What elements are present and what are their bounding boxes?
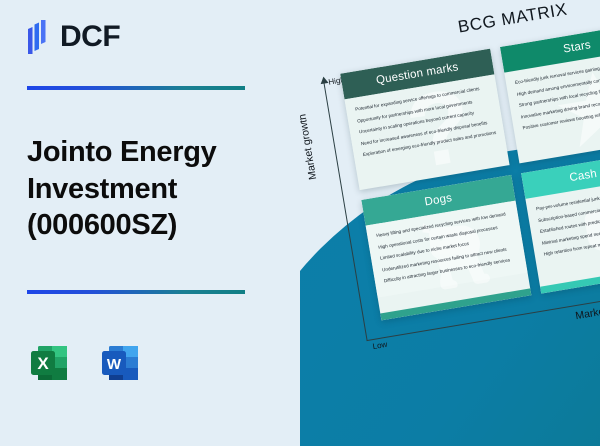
dcf-bars-logo-icon: [25, 20, 51, 54]
cover-left-panel: DCF Jointo Energy Investment (000600SZ) …: [0, 0, 300, 446]
svg-text:W: W: [107, 356, 122, 373]
quadrant-title: Stars: [562, 39, 591, 55]
quadrant-question-marks[interactable]: Question marks ? Potential for expanding…: [340, 49, 509, 190]
quadrant-item-list: Potential for expanding service offering…: [355, 85, 496, 159]
divider-bottom: [27, 290, 245, 294]
cover-slide: DCF Jointo Energy Investment (000600SZ) …: [0, 0, 600, 446]
quadrant-cash-cows[interactable]: Cash cows Pay-per-volume residential jun…: [521, 148, 600, 293]
quadrant-dogs[interactable]: Dogs Heavy lifting and specialized recyc…: [361, 175, 531, 320]
brand-logo[interactable]: DCF: [25, 20, 120, 54]
bcg-matrix: BCG MATRIX High Low Market growth Market…: [287, 0, 600, 358]
quadrant-item-list: Pay-per-volume residential junk removal …: [536, 184, 600, 258]
download-formats: X W: [27, 340, 144, 386]
y-axis-low-label: Low: [372, 340, 388, 351]
page-title-line-1: Jointo Energy: [27, 134, 277, 171]
svg-text:X: X: [37, 354, 49, 373]
quadrant-grid: Question marks ? Potential for expanding…: [340, 26, 600, 330]
excel-file-icon[interactable]: X: [27, 340, 73, 386]
divider-top: [27, 86, 245, 90]
quadrant-stars[interactable]: Stars Eco-friendly junk removal services…: [500, 22, 600, 163]
quadrant-item-list: Eco-friendly junk removal services gaini…: [515, 58, 600, 132]
page-title: Jointo Energy Investment (000600SZ): [27, 134, 277, 244]
quadrant-title: Cash cows: [569, 163, 600, 184]
word-file-icon[interactable]: W: [98, 340, 144, 386]
quadrant-title: Dogs: [424, 192, 453, 208]
page-title-line-2: Investment: [27, 171, 277, 208]
brand-name: DCF: [60, 22, 120, 52]
bcg-matrix-title: BCG MATRIX: [457, 0, 569, 38]
page-title-line-3: (000600SZ): [27, 207, 277, 244]
quadrant-item-list: Heavy lifting and specialized recycling …: [376, 211, 517, 285]
